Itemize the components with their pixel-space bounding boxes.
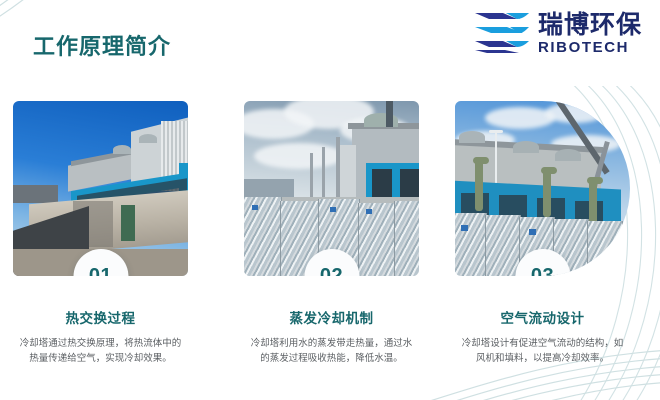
card-photo: 03 [455,101,630,276]
card-item[interactable]: 02 蒸发冷却机制 冷却塔利用水的蒸发带走热量，通过水的蒸发过程吸收热能，降低水… [244,101,419,366]
card-title: 空气流动设计 [455,307,630,327]
ribotech-chevron-mark-icon [473,10,531,56]
brand-logo: 瑞博环保 RIBOTECH [473,10,642,56]
card-body: 冷却塔通过热交换原理，将热流体中的热量传递给空气，实现冷却效果。 [13,336,188,366]
card-number: 03 [531,265,554,276]
card-number: 02 [320,265,343,276]
logo-text-block: 瑞博环保 RIBOTECH [538,12,642,55]
slide-root: 工作原理简介 瑞博环保 RIBOTECH [0,0,660,400]
card-body: 冷却塔利用水的蒸发带走热量，通过水的蒸发过程吸收热能，降低水温。 [244,336,419,366]
card-body: 冷却塔设计有促进空气流动的结构，如风机和填料，以提高冷却效率。 [455,336,630,366]
card-item[interactable]: 01 热交换过程 冷却塔通过热交换原理，将热流体中的热量传递给空气，实现冷却效果… [13,101,188,366]
logo-name-cn: 瑞博环保 [538,12,642,37]
card-title: 蒸发冷却机制 [244,307,419,327]
page-title: 工作原理简介 [33,33,171,61]
card-item[interactable]: 03 空气流动设计 冷却塔设计有促进空气流动的结构，如风机和填料，以提高冷却效率… [455,101,630,366]
card-photo: 01 [13,101,188,276]
card-photo: 02 [244,101,419,276]
card-title: 热交换过程 [13,307,188,327]
card-number: 01 [89,265,112,276]
card-row: 01 热交换过程 冷却塔通过热交换原理，将热流体中的热量传递给空气，实现冷却效果… [0,101,660,391]
logo-name-en: RIBOTECH [538,40,642,55]
